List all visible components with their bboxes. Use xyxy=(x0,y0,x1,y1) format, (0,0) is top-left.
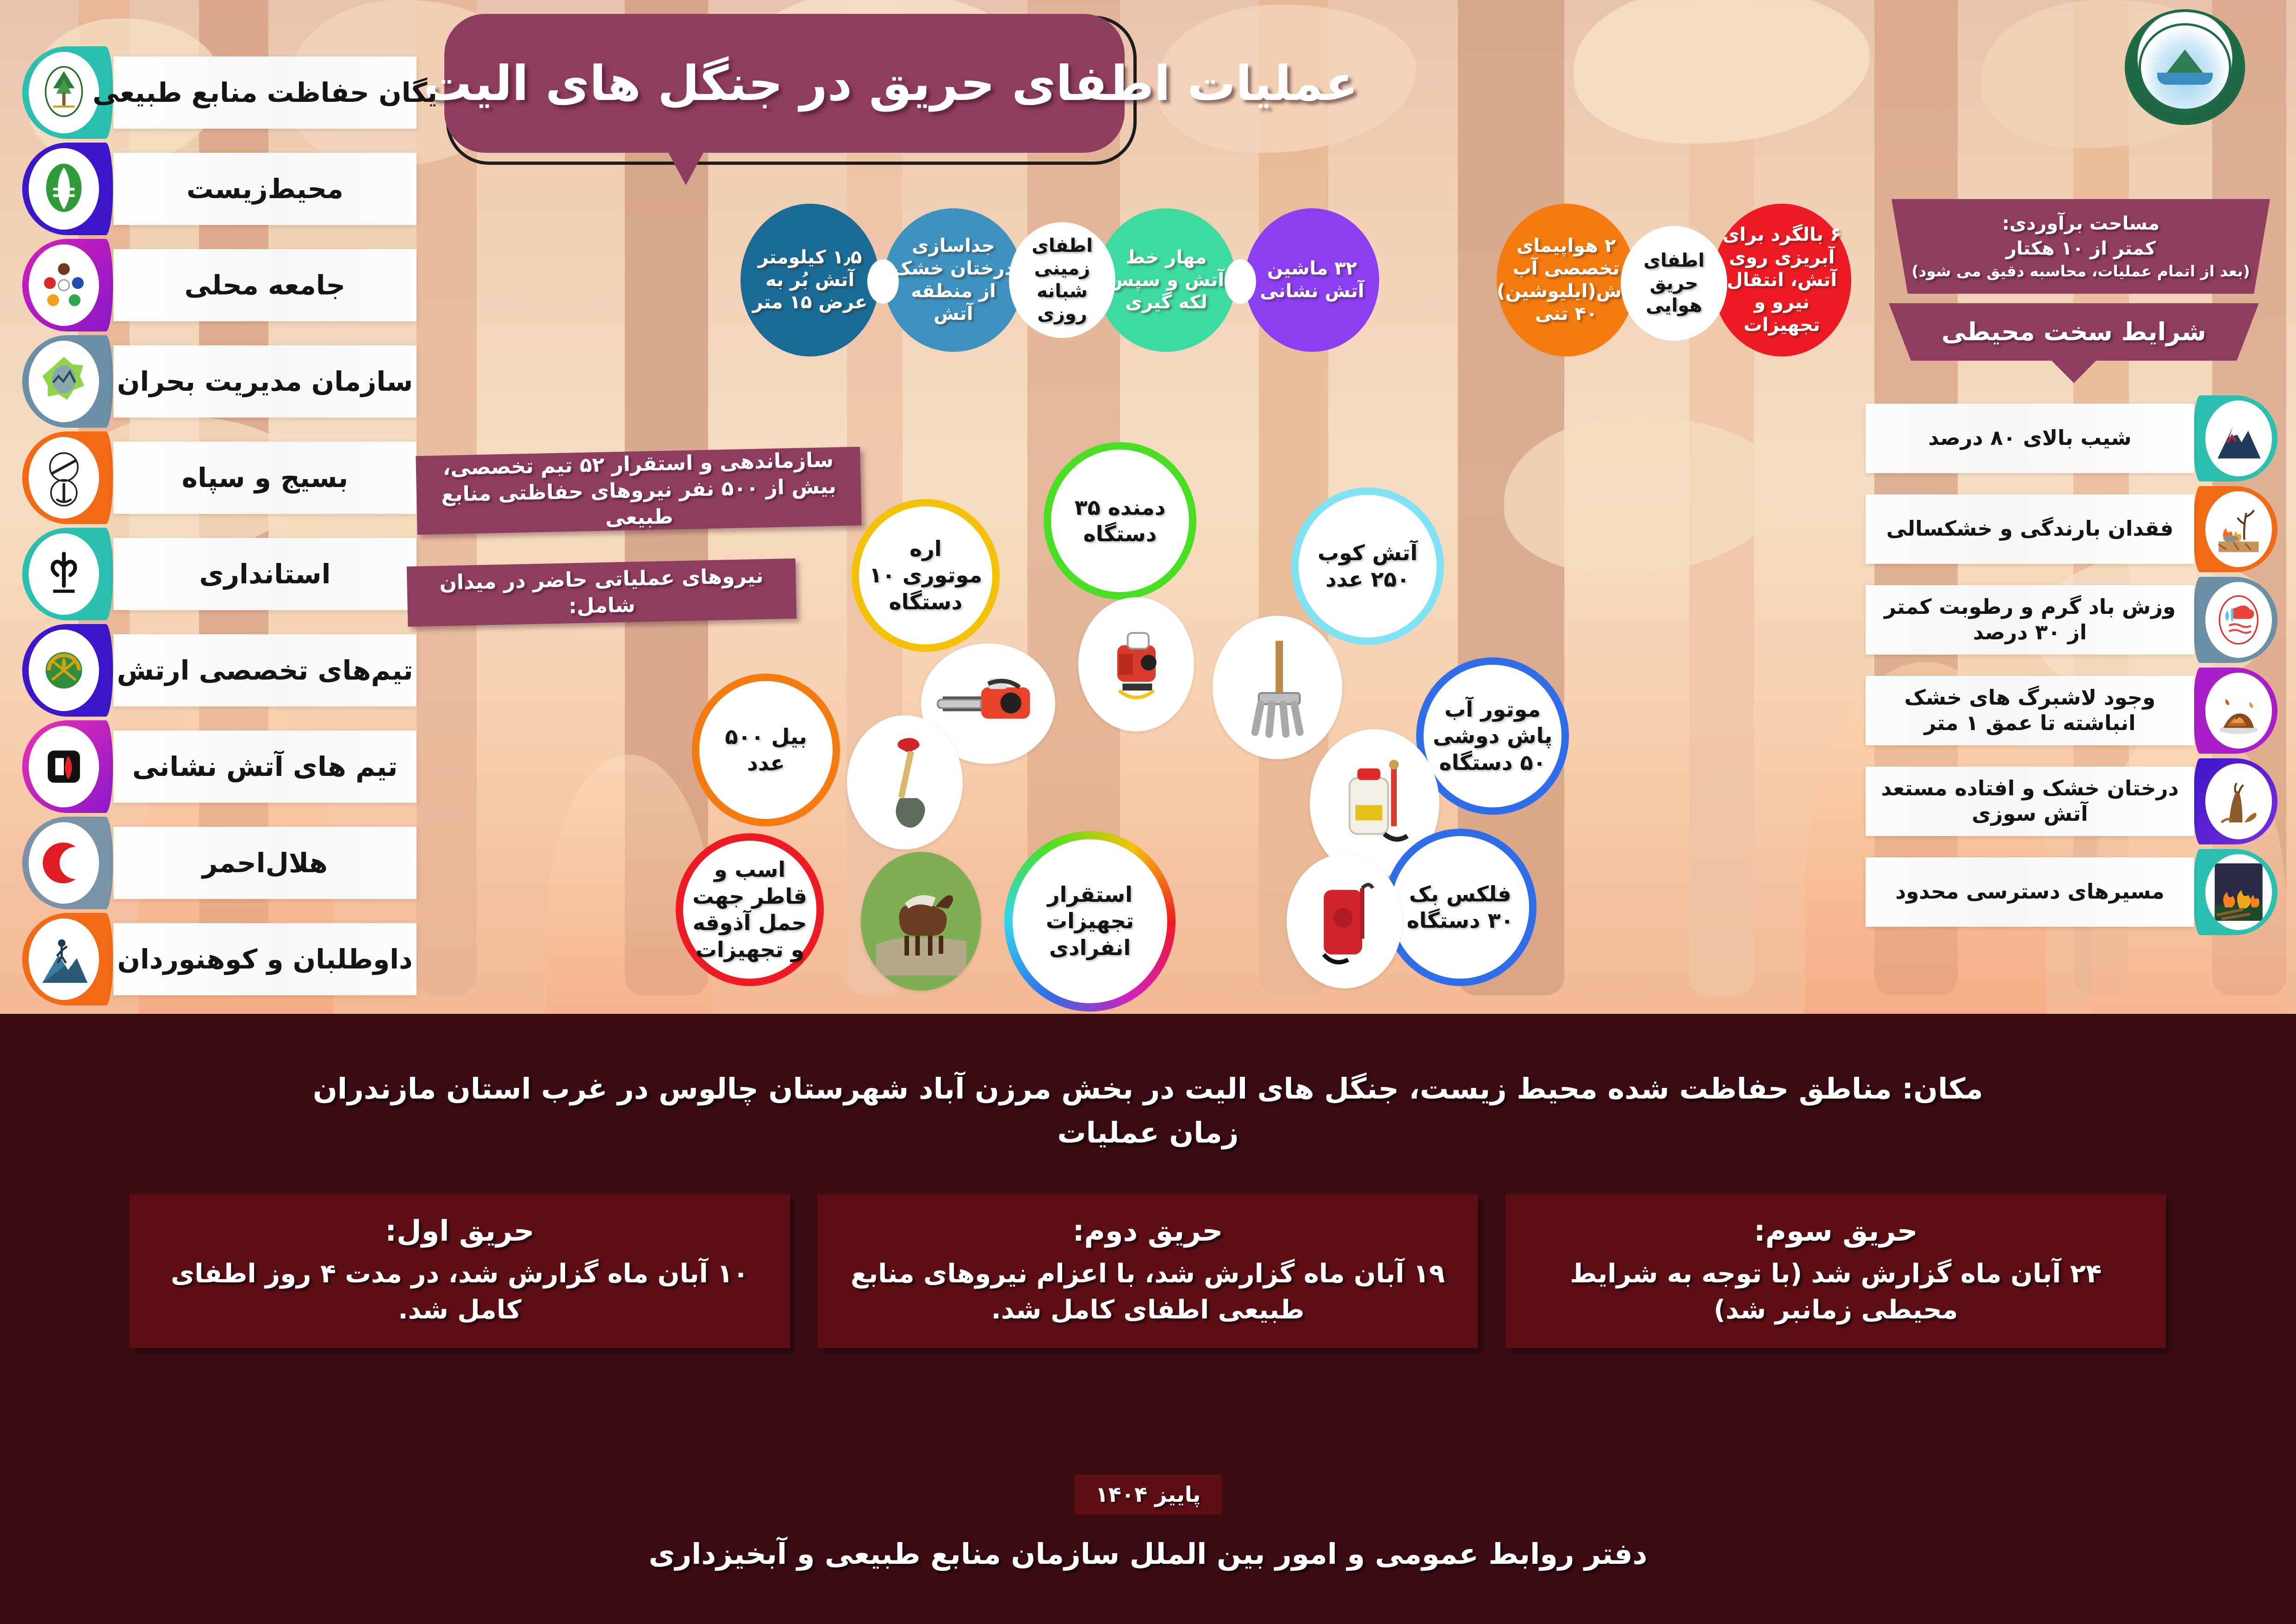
mountaineer-icon xyxy=(22,913,113,1006)
steep-mountain-icon xyxy=(2193,395,2277,481)
condition-label-bar: فقدان بارندگی و خشکسالی xyxy=(1866,494,2194,564)
equipment-label: فلکس بک ۳۰ دستگاه xyxy=(1391,881,1529,934)
equipment-label: بیل ۵۰۰ عدد xyxy=(699,724,833,777)
equipment-circle-chainsaw[interactable]: اره موتوری ۱۰ دستگاه xyxy=(852,499,1000,652)
list-item[interactable]: شیب بالای ۸۰ درصد xyxy=(1866,395,2282,481)
list-item[interactable]: مسیرهای دسترسی محدود xyxy=(1866,849,2282,935)
conditions-header: شرایط سخت محیطی xyxy=(1889,303,2259,383)
title-speech-tail xyxy=(666,149,705,185)
callout-text: سازماندهی و استقرار ۵۲ تیم تخصصی، بیش از… xyxy=(428,447,849,535)
condition-label-bar: شیب بالای ۸۰ درصد xyxy=(1866,404,2194,473)
agency-label-bar: محیط‌زیست xyxy=(113,153,417,225)
fire-incident-body: ۱۰ آبان ماه گزارش شد، در مدت ۴ روز اطفای… xyxy=(156,1256,764,1329)
pack-horse-photo xyxy=(861,852,981,991)
condition-label: درختان خشک و افتاده مستعد آتش سوزی xyxy=(1878,776,2182,827)
connector-dot xyxy=(867,259,899,304)
summary-oval-label: اطفای حریق هوایی xyxy=(1629,250,1719,317)
basij-sepah-icon xyxy=(22,431,113,524)
shovel-photo xyxy=(847,715,963,849)
iran-emblem-icon xyxy=(22,528,113,620)
list-item[interactable]: جامعه محلی xyxy=(14,239,417,331)
firefighter-logo-icon xyxy=(22,720,113,813)
conditions-header-label: شرایط سخت محیطی xyxy=(1941,317,2206,346)
equipment-circle-flexi-bag[interactable]: فلکس بک ۳۰ دستگاه xyxy=(1384,829,1537,986)
crisis-management-icon xyxy=(22,335,113,428)
equipment-circle-pack-animals[interactable]: اسب و قاطر جهت حمل آذوقه و تجهیزات xyxy=(676,833,824,986)
list-item[interactable]: محیط‌زیست xyxy=(14,143,417,235)
condition-label-bar: وزش باد گرم و رطوبت کمتر از ۳۰ درصد xyxy=(1866,585,2194,655)
agency-label-bar: تیم‌های تخصصی ارتش xyxy=(113,634,417,706)
condition-label-bar: وجود لاشبرگ های خشک انباشته تا عمق ۱ متر xyxy=(1866,676,2194,745)
condition-label-bar: درختان خشک و افتاده مستعد آتش سوزی xyxy=(1866,767,2194,836)
fire-incident-title: حریق سوم: xyxy=(1531,1214,2140,1248)
summary-oval[interactable]: اطفای حریق هوایی xyxy=(1621,226,1727,341)
fire-incident-body: ۱۹ آبان ماه گزارش شد، با اعزام نیروهای م… xyxy=(844,1256,1452,1329)
season-badge: پاییز ۱۴۰۴ xyxy=(1074,1474,1222,1514)
equipment-label: استقرار تجهیزات انفرادی xyxy=(1013,881,1167,962)
list-item[interactable]: درختان خشک و افتاده مستعد آتش سوزی xyxy=(1866,758,2282,844)
equipment-circle-blower[interactable]: دمنده ۳۵ دستگاه xyxy=(1044,442,1196,600)
summary-oval[interactable]: جداسازی درختان خشک از منطقه آتش xyxy=(884,208,1023,352)
red-crescent-icon xyxy=(22,817,113,909)
equipment-circle-fire-swatter[interactable]: آتش کوب ۲۵۰ عدد xyxy=(1291,487,1444,645)
summary-oval-label: ۶ بالگرد برای آبریزی روی آتش، انتقال نیر… xyxy=(1721,224,1843,337)
agency-label-bar: تیم های آتش نشانی xyxy=(113,731,417,803)
summary-oval[interactable]: مهار خط آتش و سپس لکه گیری xyxy=(1097,208,1236,352)
fire-incident-card[interactable]: حریق اول: ۱۰ آبان ماه گزارش شد، در مدت ۴… xyxy=(130,1194,790,1348)
condition-label: وزش باد گرم و رطوبت کمتر از ۳۰ درصد xyxy=(1878,594,2182,645)
equipment-circle-individual-gear[interactable]: استقرار تجهیزات انفرادی xyxy=(1004,831,1176,1012)
fire-incident-card[interactable]: حریق سوم: ۲۴ آبان ماه گزارش شد (با توجه … xyxy=(1506,1194,2166,1348)
area-estimate-title: مساحت برآوردی: xyxy=(1898,211,2264,236)
limited-access-fire-icon xyxy=(2193,849,2277,935)
list-item[interactable]: تیم‌های تخصصی ارتش xyxy=(14,624,417,717)
season-label: پاییز ۱۴۰۴ xyxy=(1095,1482,1201,1507)
area-estimate-box: مساحت برآوردی: کمتر از ۱۰ هکتار (بعد از … xyxy=(1879,199,2282,294)
time-header: زمان عملیات xyxy=(0,1116,2296,1149)
summary-oval[interactable]: ۲ هواپیمای تخصصی آب پاش(ایلیوشین) ۴۰ تنی xyxy=(1497,204,1636,356)
agency-label-bar: سازمان مدیریت بحران xyxy=(113,345,417,418)
agency-label: تیم های آتش نشانی xyxy=(132,751,398,782)
summary-oval[interactable]: اطفای زمینی شبانه روزی xyxy=(1009,222,1115,338)
condition-label: فقدان بارندگی و خشکسالی xyxy=(1886,516,2173,542)
hot-wind-humidity-icon xyxy=(2193,577,2277,663)
agency-label-bar: بسیج و سپاه xyxy=(113,442,417,514)
agency-label-bar: هلال‌احمر xyxy=(113,827,417,899)
fire-incident-title: حریق دوم: xyxy=(844,1214,1452,1248)
area-estimate-note: (بعد از اتمام عملیات، محاسبه دقیق می شود… xyxy=(1898,261,2264,282)
summary-oval-label: ۱٫۵ کیلومتر آتش بُر به عرض ۱۵ متر xyxy=(749,246,871,314)
equipment-label: اره موتوری ۱۰ دستگاه xyxy=(859,536,992,616)
condition-label-bar: مسیرهای دسترسی محدود xyxy=(1866,857,2194,927)
organization-logo-icon xyxy=(2125,9,2245,125)
callout-field-forces: نیروهای عملیاتی حاضر در میدان شامل: xyxy=(407,558,797,627)
equipment-label: دمنده ۳۵ دستگاه xyxy=(1051,494,1189,548)
connector-dot xyxy=(1225,259,1256,304)
equipment-circle-shovel[interactable]: بیل ۵۰۰ عدد xyxy=(692,674,840,826)
fire-incident-body: ۲۴ آبان ماه گزارش شد (با توجه به شرایط م… xyxy=(1531,1256,2140,1329)
agency-label: سازمان مدیریت بحران xyxy=(117,366,413,397)
equipment-circle-water-sprayer[interactable]: موتور آب پاش دوشی ۵۰ دستگاه xyxy=(1416,657,1569,815)
footer-credit: دفتر روابط عمومی و امور بین الملل سازمان… xyxy=(0,1537,2296,1571)
summary-oval-label: اطفای زمینی شبانه روزی xyxy=(1017,235,1107,325)
agency-label: جامعه محلی xyxy=(185,269,346,301)
agency-label: محیط‌زیست xyxy=(187,173,343,205)
drought-fire-icon xyxy=(2193,486,2277,572)
agency-label: داوطلبان و کوهنوردان xyxy=(117,943,412,975)
summary-oval[interactable]: ۱٫۵ کیلومتر آتش بُر به عرض ۱۵ متر xyxy=(740,204,879,356)
fire-incident-title: حریق اول: xyxy=(156,1214,764,1248)
conditions-panel: مساحت برآوردی: کمتر از ۱۰ هکتار (بعد از … xyxy=(1866,199,2282,940)
agency-label: هلال‌احمر xyxy=(202,847,328,879)
list-item[interactable]: فقدان بارندگی و خشکسالی xyxy=(1866,486,2282,572)
area-estimate-value: کمتر از ۱۰ هکتار xyxy=(1898,236,2264,261)
agency-label: بسیج و سپاه xyxy=(182,462,348,493)
army-crest-icon xyxy=(22,624,113,717)
summary-oval[interactable]: ۳۲ ماشین آتش نشانی xyxy=(1245,208,1379,352)
summary-oval[interactable]: ۶ بالگرد برای آبریزی روی آتش، انتقال نیر… xyxy=(1712,204,1851,356)
bottom-details-section: مکان: مناطق حفاظت شده محیط زیست، جنگل ها… xyxy=(0,1014,2296,1624)
equipment-label: موتور آب پاش دوشی ۵۰ دستگاه xyxy=(1424,696,1562,776)
environment-leaf-icon xyxy=(22,143,113,235)
location-line: مکان: مناطق حفاظت شده محیط زیست، جنگل ها… xyxy=(0,1014,2296,1108)
fire-incident-list: حریق اول: ۱۰ آبان ماه گزارش شد، در مدت ۴… xyxy=(130,1194,2166,1348)
condition-label: شیب بالای ۸۰ درصد xyxy=(1928,425,2131,451)
callout-text: نیروهای عملیاتی حاضر در میدان شامل: xyxy=(419,562,784,623)
list-item[interactable]: وجود لاشبرگ های خشک انباشته تا عمق ۱ متر xyxy=(1866,668,2282,754)
list-item[interactable]: وزش باد گرم و رطوبت کمتر از ۳۰ درصد xyxy=(1866,577,2282,663)
list-item[interactable]: سازمان مدیریت بحران xyxy=(14,335,417,428)
agency-label: استانداری xyxy=(199,558,330,590)
condition-label: مسیرهای دسترسی محدود xyxy=(1895,879,2165,905)
summary-oval-label: ۳۲ ماشین آتش نشانی xyxy=(1253,257,1371,303)
summary-oval-label: مهار خط آتش و سپس لکه گیری xyxy=(1105,246,1227,314)
callout-team-deployment: سازماندهی و استقرار ۵۲ تیم تخصصی، بیش از… xyxy=(416,447,861,535)
equipment-label: اسب و قاطر جهت حمل آذوقه و تجهیزات xyxy=(683,856,816,963)
leaf-blower-photo xyxy=(1078,597,1194,731)
list-item[interactable]: بسیج و سپاه xyxy=(14,431,417,524)
dry-leaf-litter-icon xyxy=(2193,668,2277,754)
equipment-label: آتش کوب ۲۵۰ عدد xyxy=(1299,540,1437,593)
community-people-icon xyxy=(22,239,113,331)
fire-incident-card[interactable]: حریق دوم: ۱۹ آبان ماه گزارش شد، با اعزام… xyxy=(818,1194,1478,1348)
operations-summary-row: ۶ بالگرد برای آبریزی روی آتش، انتقال نیر… xyxy=(454,204,1851,356)
title-banner-group: عملیات اطفای حریق در جنگل های الیت هیرکا… xyxy=(444,14,1139,167)
agency-label-bar: جامعه محلی xyxy=(113,249,417,321)
agency-label-bar: یگان حفاظت منابع طبیعی xyxy=(113,56,417,129)
agency-label: تیم‌های تخصصی ارتش xyxy=(117,655,413,686)
list-item[interactable]: یگان حفاظت منابع طبیعی xyxy=(14,46,417,139)
condition-label: وجود لاشبرگ های خشک انباشته تا عمق ۱ متر xyxy=(1878,685,2182,736)
list-item[interactable]: استانداری xyxy=(14,528,417,620)
fire-swatter-photo xyxy=(1213,616,1342,759)
infographic-poster: عملیات اطفای حریق در جنگل های الیت هیرکا… xyxy=(0,0,2296,1624)
agency-label-bar: داوطلبان و کوهنوردان xyxy=(113,923,417,995)
summary-oval-label: جداسازی درختان خشک از منطقه آتش xyxy=(892,235,1014,325)
list-item[interactable]: داوطلبان و کوهنوردان xyxy=(14,913,417,1006)
flexi-bag-photo xyxy=(1287,854,1402,988)
agency-label: یگان حفاظت منابع طبیعی xyxy=(93,77,437,108)
summary-oval-label: ۲ هواپیمای تخصصی آب پاش(ایلیوشین) ۴۰ تنی xyxy=(1497,235,1636,325)
page-title-banner: عملیات اطفای حریق در جنگل های الیت هیرکا… xyxy=(444,14,1125,153)
fallen-dry-tree-icon xyxy=(2193,758,2277,844)
agency-list: یگان حفاظت منابع طبیعی محیط‌زیست جامعه م… xyxy=(14,46,417,1009)
list-item[interactable]: تیم های آتش نشانی xyxy=(14,720,417,813)
agency-label-bar: استانداری xyxy=(113,538,417,610)
list-item[interactable]: هلال‌احمر xyxy=(14,817,417,909)
